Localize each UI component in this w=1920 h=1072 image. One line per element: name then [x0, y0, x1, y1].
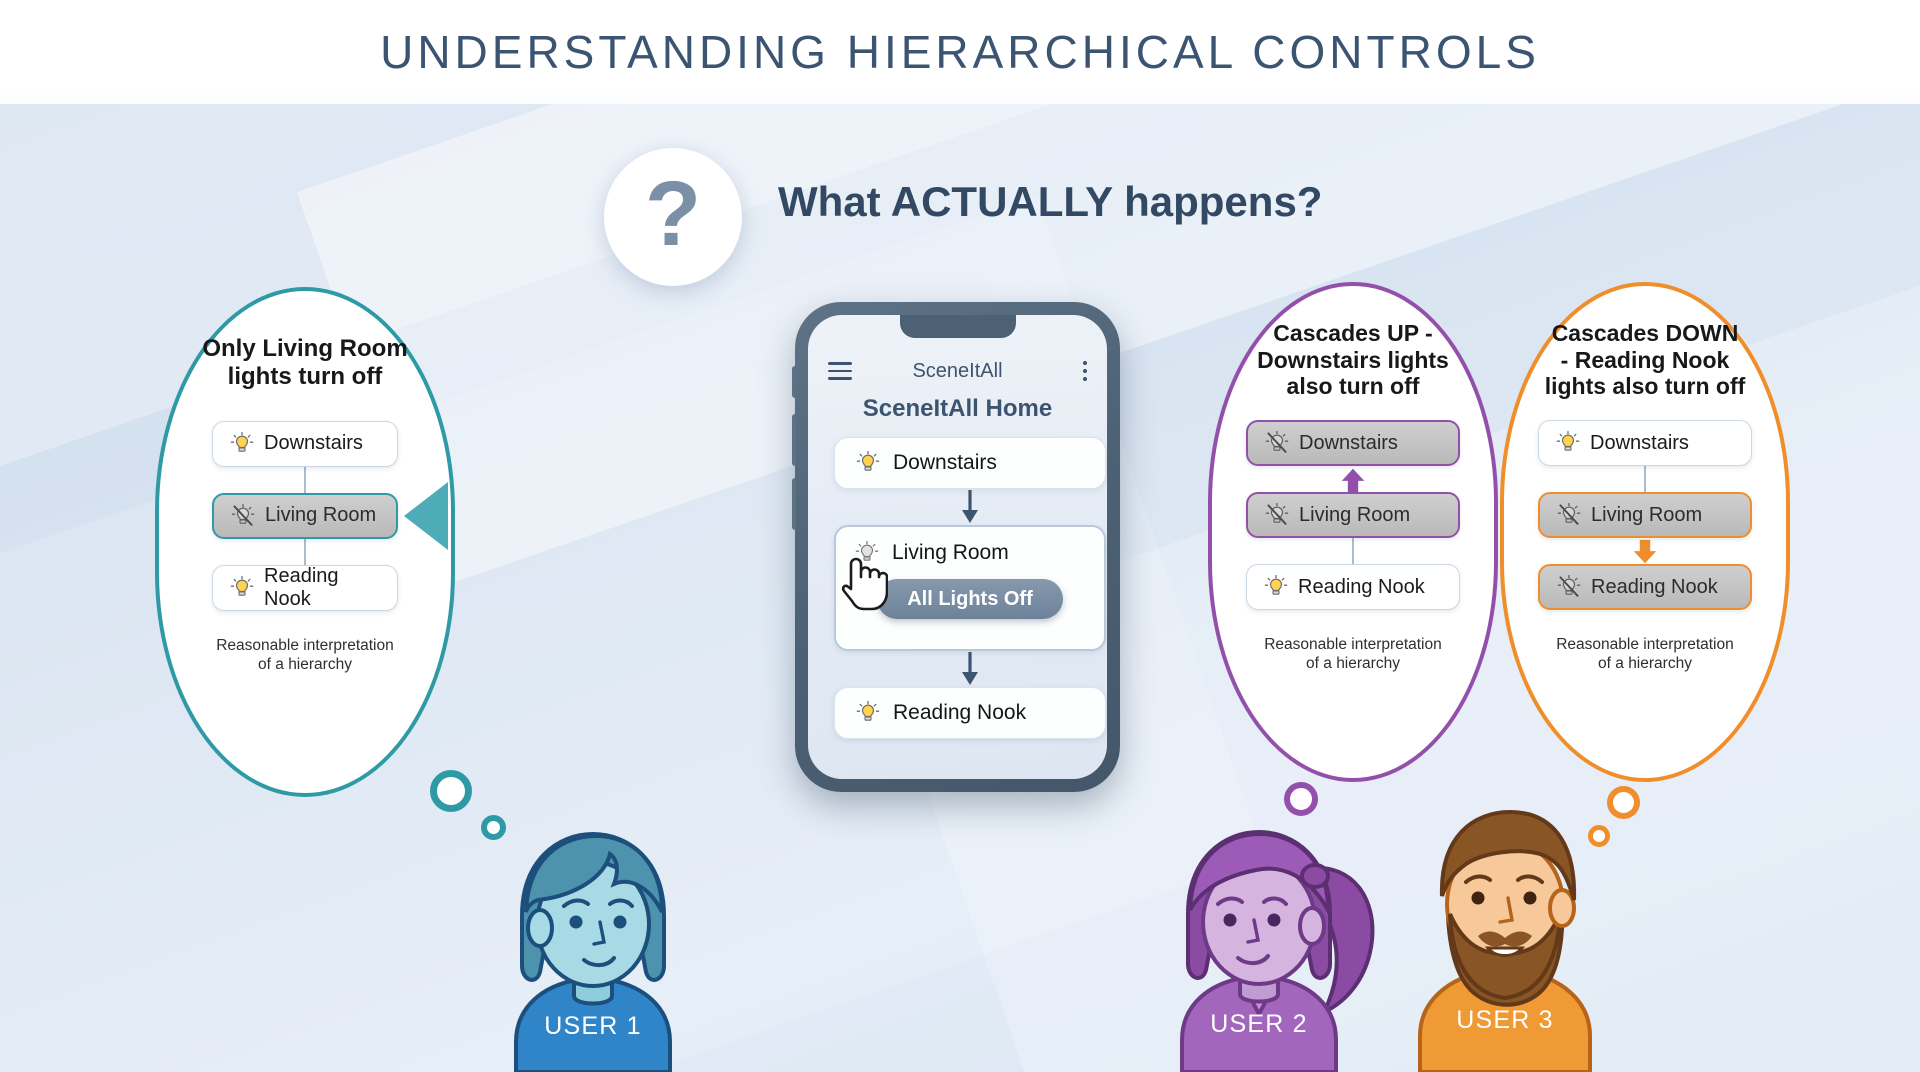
lightbulb-on-icon — [855, 450, 881, 476]
node-label: Living Room — [1299, 504, 1410, 527]
thought-tail-large — [1607, 786, 1640, 819]
phone-volume-up-button[interactable] — [792, 414, 796, 466]
lightbulb-on-icon — [229, 431, 255, 457]
hierarchy-connector — [1352, 538, 1354, 564]
bubble-3-caption: Reasonable interpretation of a hierarchy — [1556, 636, 1734, 674]
node-downstairs[interactable]: Downstairs — [1246, 420, 1460, 466]
phone-notch — [900, 315, 1016, 338]
node-label: Reading Nook — [264, 565, 381, 611]
bubble-3-title: Cascades DOWN - Reading Nook lights also… — [1522, 320, 1768, 400]
thought-tail-large — [1284, 782, 1318, 816]
kebab-menu-icon[interactable] — [1063, 361, 1087, 382]
node-reading-nook[interactable]: Reading Nook — [1538, 564, 1752, 610]
page-title: UNDERSTANDING HIERARCHICAL CONTROLS — [380, 25, 1540, 79]
lightbulb-off-icon — [1264, 430, 1290, 456]
arrow-up-icon — [1340, 466, 1366, 492]
hierarchy-connector — [304, 539, 306, 565]
bubble-1-caption: Reasonable interpretation of a hierarchy — [216, 637, 394, 675]
infographic-canvas: UNDERSTANDING HIERARCHICAL CONTROLS ? Wh… — [0, 0, 1920, 1072]
node-living-room[interactable]: Living Room — [212, 493, 398, 539]
bubble-user-2: Cascades UP - Downstairs lights also tur… — [1208, 282, 1498, 782]
phone-screen: SceneItAll SceneItAll Home — [808, 315, 1107, 779]
bubble-1-title: Only Living Room lights turn off — [185, 335, 425, 391]
header-bar: UNDERSTANDING HIERARCHICAL CONTROLS — [0, 0, 1920, 104]
node-label: Downstairs — [1299, 432, 1398, 455]
selection-pointer-icon — [404, 482, 448, 550]
bubble-2-title: Cascades UP - Downstairs lights also tur… — [1233, 320, 1473, 400]
bubble-1-hierarchy: Downstairs — [212, 421, 398, 611]
hand-pointer-icon — [838, 555, 888, 615]
thought-tail-large — [430, 770, 472, 812]
phone-card-reading-nook[interactable]: Reading Nook — [834, 687, 1106, 739]
lightbulb-on-icon — [855, 700, 881, 726]
node-living-room[interactable]: Living Room — [1246, 492, 1460, 538]
user-2-avatar: USER 2 — [1160, 812, 1390, 1072]
phone-card-header: Living Room — [854, 540, 1086, 566]
phone-card-label: Living Room — [892, 541, 1009, 565]
node-label: Reading Nook — [1298, 576, 1425, 599]
app-bar: SceneItAll — [808, 353, 1107, 389]
lightbulb-on-icon — [1263, 574, 1289, 600]
lightbulb-on-icon — [1555, 430, 1581, 456]
node-living-room[interactable]: Living Room — [1538, 492, 1752, 538]
node-reading-nook[interactable]: Reading Nook — [1246, 564, 1460, 610]
arrow-down-icon — [834, 489, 1106, 525]
thought-tail-small — [1588, 825, 1610, 847]
node-reading-nook[interactable]: Reading Nook — [212, 565, 398, 611]
phone-side-button[interactable] — [792, 366, 796, 398]
node-label: Downstairs — [264, 432, 363, 455]
phone-card-label: Reading Nook — [893, 701, 1026, 725]
bubble-2-caption: Reasonable interpretation of a hierarchy — [1264, 636, 1442, 674]
app-title: SceneItAll — [852, 360, 1063, 383]
bubble-user-1: Only Living Room lights turn off Downsta… — [155, 287, 455, 797]
node-label: Living Room — [1591, 504, 1702, 527]
hierarchy-connector — [1644, 466, 1646, 492]
user-1-avatar: USER 1 — [478, 820, 708, 1072]
bubble-user-3: Cascades DOWN - Reading Nook lights also… — [1500, 282, 1790, 782]
question-badge: ? — [604, 148, 742, 286]
bubble-2-hierarchy: Downstairs — [1246, 420, 1460, 610]
phone-card-downstairs[interactable]: Downstairs — [834, 437, 1106, 489]
lightbulb-off-icon — [1264, 502, 1290, 528]
thought-tail-small — [481, 815, 506, 840]
node-label: Downstairs — [1590, 432, 1689, 455]
lightbulb-off-icon — [230, 503, 256, 529]
lightbulb-on-icon — [229, 575, 255, 601]
lightbulb-off-icon — [1556, 574, 1582, 600]
question-heading: What ACTUALLY happens? — [778, 178, 1322, 226]
phone-mockup: SceneItAll SceneItAll Home — [795, 302, 1120, 792]
all-lights-off-button[interactable]: All Lights Off — [877, 579, 1063, 619]
arrow-down-icon — [834, 651, 1106, 687]
lightbulb-off-icon — [1556, 502, 1582, 528]
node-label: Reading Nook — [1591, 576, 1718, 599]
phone-card-label: Downstairs — [893, 451, 997, 475]
bubble-3-hierarchy: Downstairs Living Room — [1538, 420, 1752, 610]
node-label: Living Room — [265, 504, 376, 527]
question-mark-icon: ? — [645, 168, 701, 260]
node-downstairs[interactable]: Downstairs — [212, 421, 398, 467]
node-downstairs[interactable]: Downstairs — [1538, 420, 1752, 466]
phone-volume-down-button[interactable] — [792, 478, 796, 530]
hamburger-icon[interactable] — [828, 362, 852, 380]
hierarchy-connector — [304, 467, 306, 493]
arrow-down-icon — [1632, 538, 1658, 564]
page-heading: SceneItAll Home — [808, 395, 1107, 423]
